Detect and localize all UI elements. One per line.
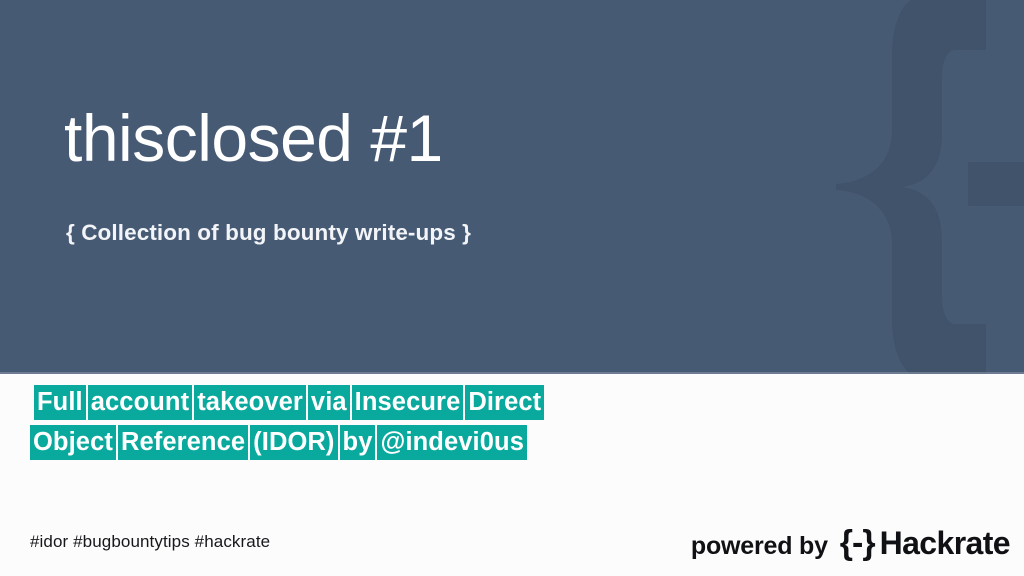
article-title-word: account: [88, 385, 192, 420]
article-title-line-1: FullaccounttakeoverviaInsecureDirect: [30, 385, 730, 420]
article-title-word: Direct: [465, 385, 544, 420]
article-title-word: takeover: [194, 385, 306, 420]
brace-left-icon: [806, 0, 986, 374]
article-title-word: @indevi0us: [377, 425, 527, 460]
article-title-word: (IDOR): [250, 425, 337, 460]
article-title-word: Object: [30, 425, 116, 460]
hackrate-brace-logo-icon: {-}: [840, 524, 875, 563]
article-title-word: by: [340, 425, 376, 460]
page-title: thisclosed #1: [64, 104, 443, 173]
page-subtitle: { Collection of bug bounty write-ups }: [66, 220, 471, 246]
article-title: FullaccounttakeoverviaInsecureDirect Obj…: [30, 385, 730, 465]
powered-by-label: powered by: [691, 532, 828, 561]
article-title-word: Full: [34, 385, 86, 420]
powered-by-credit: powered by {-} Hackrate: [691, 524, 1010, 563]
article-title-line-2: ObjectReference(IDOR)by@indevi0us: [30, 425, 730, 460]
hero-panel: thisclosed #1 { Collection of bug bounty…: [0, 0, 1024, 374]
hero-divider: [0, 372, 1024, 374]
article-title-word: Reference: [118, 425, 248, 460]
article-title-word: via: [308, 385, 350, 420]
article-title-word: Insecure: [352, 385, 464, 420]
slide-canvas: thisclosed #1 { Collection of bug bounty…: [0, 0, 1024, 576]
dash-bar-icon: [968, 162, 1024, 206]
hashtag-list: #idor #bugbountytips #hackrate: [30, 532, 270, 552]
brand-name: Hackrate: [880, 525, 1010, 562]
